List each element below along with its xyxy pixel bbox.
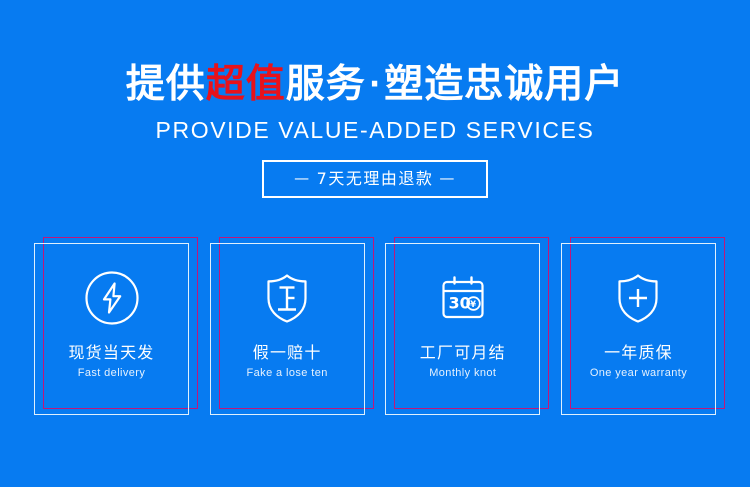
card-subtitle: Fake a lose ten <box>247 366 328 380</box>
feature-card-monthly-knot[interactable]: 30 ¥ 工厂可月结 Monthly knot <box>385 243 540 415</box>
page-subtitle: PROVIDE VALUE-ADDED SERVICES <box>0 108 750 144</box>
feature-card-fast-delivery[interactable]: 现货当天发 Fast delivery <box>34 243 189 415</box>
title-part-3: 塑造忠诚用户 <box>384 62 624 107</box>
shield-zheng-icon <box>257 268 317 328</box>
card-subtitle: Fast delivery <box>78 366 146 380</box>
lightning-bolt-circle-icon <box>82 268 142 328</box>
page-title: 提供超值服务·塑造忠诚用户 <box>0 0 750 108</box>
svg-text:¥: ¥ <box>470 300 476 310</box>
badge-dash-right: — <box>433 169 462 187</box>
card-title: 现货当天发 <box>68 343 154 362</box>
feature-card-one-year-warranty[interactable]: 一年质保 One year warranty <box>561 243 716 415</box>
title-highlight: 超值 <box>206 62 286 107</box>
feature-card-row: 现货当天发 Fast delivery 假一赔十 Fa <box>0 243 750 423</box>
title-separator: · <box>366 67 384 102</box>
badge-container: —7天无理由退款— <box>0 160 750 198</box>
card-title: 假一赔十 <box>253 343 322 362</box>
badge-dash-left: — <box>288 169 317 187</box>
title-part-1: 提供 <box>126 62 206 107</box>
feature-card-fake-a-lose-ten[interactable]: 假一赔十 Fake a lose ten <box>210 243 365 415</box>
promo-banner: 提供超值服务·塑造忠诚用户 PROVIDE VALUE-ADDED SERVIC… <box>0 0 750 487</box>
card-subtitle: Monthly knot <box>429 366 496 380</box>
card-subtitle: One year warranty <box>590 366 687 380</box>
refund-policy-badge: —7天无理由退款— <box>262 160 488 198</box>
card-title: 工厂可月结 <box>420 343 506 362</box>
shield-plus-icon <box>608 268 668 328</box>
card-title: 一年质保 <box>604 343 673 362</box>
calendar-30-yuan-icon: 30 ¥ <box>433 268 493 328</box>
title-part-2: 服务 <box>286 62 366 107</box>
banner-header: 提供超值服务·塑造忠诚用户 PROVIDE VALUE-ADDED SERVIC… <box>0 0 750 198</box>
badge-label: 7天无理由退款 <box>317 169 434 188</box>
